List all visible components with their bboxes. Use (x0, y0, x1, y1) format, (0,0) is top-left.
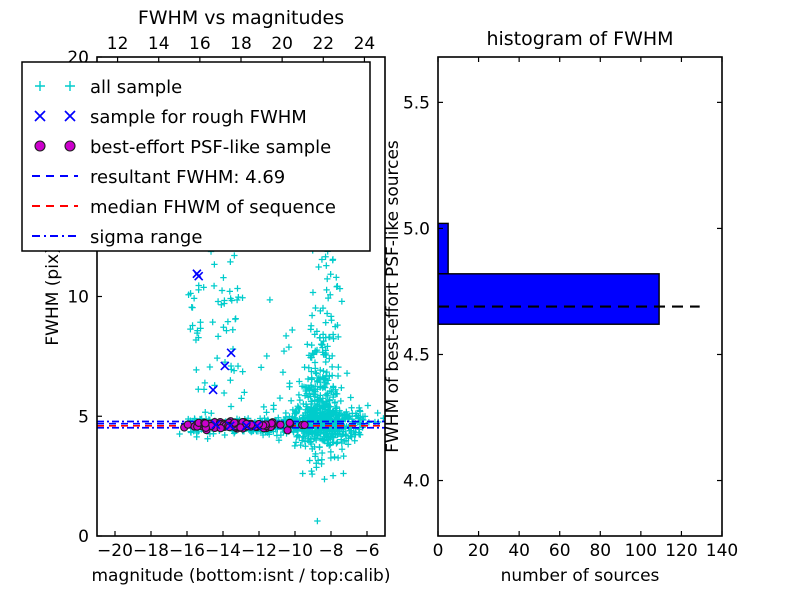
data-point-all (222, 432, 228, 438)
data-point-all (220, 324, 226, 330)
data-point-all (225, 318, 231, 324)
legend: all samplesample for rough FWHMbest-effo… (22, 62, 370, 251)
data-point-all (277, 395, 283, 401)
right-xticklabel: 100 (625, 541, 657, 561)
data-point-all (191, 295, 197, 301)
scientific-figure: −20−18−16−14−12−10−8−6121416182022240510… (0, 0, 800, 600)
data-point-rough (209, 386, 217, 394)
data-point-all (309, 471, 315, 477)
data-point-all (339, 298, 345, 304)
data-point-all (365, 402, 371, 408)
data-point-all (323, 262, 329, 268)
data-point-all (299, 470, 305, 476)
data-point-all (340, 453, 346, 459)
data-point-all (304, 341, 310, 347)
data-point-all (239, 368, 245, 374)
data-point-rough (227, 349, 235, 357)
data-point-all (197, 319, 203, 325)
data-point-all (323, 392, 329, 398)
right-yticklabel: 4.5 (403, 345, 430, 365)
left-xticklabel-bottom: −12 (241, 541, 277, 561)
left-xticklabel-bottom: −10 (277, 541, 313, 561)
data-point-all (309, 342, 315, 348)
data-point-all (352, 438, 358, 444)
data-point-psf (217, 425, 224, 432)
series-rough-sample (193, 270, 261, 430)
data-point-all (208, 410, 214, 416)
data-point-all (309, 312, 315, 318)
data-point-all (280, 369, 286, 375)
data-point-all (338, 385, 344, 391)
data-point-all (218, 302, 224, 308)
data-point-all (227, 377, 233, 383)
left-xticklabel-bottom: −20 (97, 541, 133, 561)
data-point-all (281, 348, 287, 354)
data-point-all (339, 446, 345, 452)
data-point-all (238, 395, 244, 401)
data-point-all (329, 364, 335, 370)
data-point-all (176, 431, 182, 437)
data-point-all (228, 403, 234, 409)
data-point-all (209, 319, 215, 325)
data-point-all (292, 443, 298, 449)
data-point-all (214, 355, 220, 361)
left-xticklabel-top: 24 (354, 34, 376, 54)
data-point-all (347, 394, 353, 400)
figure-canvas: −20−18−16−14−12−10−8−6121416182022240510… (0, 0, 800, 600)
data-point-all (215, 333, 221, 339)
data-point-all (288, 398, 294, 404)
data-point-all (333, 440, 339, 446)
left-xticklabel-top: 16 (189, 34, 211, 54)
right-data-area (438, 223, 700, 324)
left-xticklabel-bottom: −8 (318, 541, 343, 561)
left-xticklabel-bottom: −6 (354, 541, 379, 561)
histogram-bar (438, 274, 659, 324)
data-point-all (308, 468, 314, 474)
data-point-all (323, 287, 329, 293)
right-xticklabel: 60 (549, 541, 571, 561)
data-point-all (338, 398, 344, 404)
data-point-all (286, 344, 292, 350)
data-point-all (211, 283, 217, 289)
data-point-all (215, 298, 221, 304)
data-point-all (335, 455, 341, 461)
data-point-all (324, 276, 330, 282)
legend-item-label: median FHWM of sequence (90, 197, 336, 218)
legend-item-label: resultant FWHM: 4.69 (90, 167, 285, 188)
right-xticklabel: 80 (589, 541, 611, 561)
data-point-all (312, 359, 318, 365)
data-point-all (328, 313, 334, 319)
data-point-all (235, 363, 241, 369)
left-xlabel: magnitude (bottom:isnt / top:calib) (92, 566, 391, 586)
data-point-all (328, 455, 334, 461)
data-point-all (223, 327, 229, 333)
legend-item-label: best-effort PSF-like sample (90, 137, 331, 158)
data-point-all (335, 364, 341, 370)
data-point-all (286, 380, 292, 386)
data-point-all (327, 271, 333, 277)
data-point-all (264, 353, 270, 359)
right-panel: 0204060801001201404.04.55.05.5histogram … (383, 28, 738, 586)
right-xticklabel: 120 (665, 541, 697, 561)
data-point-all (234, 285, 240, 291)
data-point-all (289, 327, 295, 333)
data-point-all (193, 367, 199, 373)
left-xticklabel-top: 14 (148, 34, 170, 54)
data-point-rough (195, 272, 203, 280)
right-panel-title: histogram of FWHM (486, 28, 673, 50)
data-point-all (211, 261, 217, 267)
data-point-all (310, 289, 316, 295)
data-point-all (270, 406, 276, 412)
data-point-all (283, 410, 289, 416)
data-point-all (333, 274, 339, 280)
data-point-all (219, 287, 225, 293)
data-point-all (189, 304, 195, 310)
data-point-all (330, 472, 336, 478)
data-point-psf (202, 420, 209, 427)
right-xlabel: number of sources (501, 566, 660, 586)
data-point-all (231, 252, 237, 258)
legend-item-label: all sample (90, 77, 182, 98)
data-point-all (232, 316, 238, 322)
data-point-all (335, 373, 341, 379)
data-point-all (374, 410, 380, 416)
data-point-all (321, 476, 327, 482)
data-point-all (306, 457, 312, 463)
legend-marker-dot-icon (35, 141, 45, 151)
right-xticklabel: 140 (706, 541, 738, 561)
data-point-all (227, 288, 233, 294)
left-xticklabel-top: 12 (107, 34, 129, 54)
left-xticklabel-top: 18 (230, 34, 252, 54)
data-point-all (312, 305, 318, 311)
data-point-psf (286, 419, 293, 426)
data-point-psf (277, 421, 284, 428)
data-point-all (297, 397, 303, 403)
right-yticklabel: 5.0 (403, 219, 430, 239)
data-point-all (227, 259, 233, 265)
data-point-all (308, 326, 314, 332)
data-point-psf (301, 421, 308, 428)
data-point-all (317, 335, 323, 341)
data-point-all (323, 319, 329, 325)
left-ylabel: FWHM (pix) (43, 247, 63, 345)
data-point-all (220, 274, 226, 280)
data-point-all (328, 449, 334, 455)
left-xticklabel-top: 22 (312, 34, 334, 54)
data-point-all (319, 450, 325, 456)
right-ylabel: FWHM of best-effort PSF-like sources (383, 140, 403, 453)
data-point-all (207, 364, 213, 370)
left-xticklabel-top: 20 (271, 34, 293, 54)
left-xticklabel-bottom: −18 (133, 541, 169, 561)
left-xticklabel-bottom: −16 (169, 541, 205, 561)
legend-marker-dot-icon (65, 141, 75, 151)
data-point-all (314, 518, 320, 524)
data-point-all (324, 310, 330, 316)
data-point-all (195, 386, 201, 392)
data-point-all (323, 359, 329, 365)
data-point-all (230, 327, 236, 333)
left-yticklabel: 0 (78, 527, 89, 547)
legend-item-label: sample for rough FWHM (90, 107, 307, 128)
data-point-psf (184, 421, 191, 428)
data-point-all (340, 470, 346, 476)
data-point-all (283, 333, 289, 339)
data-point-all (315, 264, 321, 270)
data-point-all (348, 405, 354, 411)
data-point-all (344, 370, 350, 376)
data-point-all (241, 389, 247, 395)
right-yticklabel: 5.5 (403, 93, 430, 113)
data-point-all (330, 257, 336, 263)
data-point-all (267, 297, 273, 303)
data-point-all (302, 443, 308, 449)
right-xticklabel: 20 (468, 541, 490, 561)
data-point-all (201, 386, 207, 392)
left-yticklabel: 10 (67, 288, 89, 308)
histogram-bar (438, 223, 448, 273)
left-panel-title: FWHM vs magnitudes (138, 7, 344, 29)
data-point-all (296, 392, 302, 398)
left-yticklabel: 5 (78, 407, 89, 427)
right-yticklabel: 4.0 (403, 472, 430, 492)
data-point-all (221, 300, 227, 306)
data-point-all (202, 409, 208, 415)
right-xticklabel: 40 (508, 541, 530, 561)
right-xticklabel: 0 (433, 541, 444, 561)
data-point-all (331, 454, 337, 460)
legend-item-label: sigma range (90, 227, 202, 248)
data-point-all (316, 444, 322, 450)
data-point-all (193, 434, 199, 440)
left-xticklabel-bottom: −14 (205, 541, 241, 561)
data-point-all (258, 364, 264, 370)
data-point-all (202, 380, 208, 386)
data-point-all (221, 390, 227, 396)
